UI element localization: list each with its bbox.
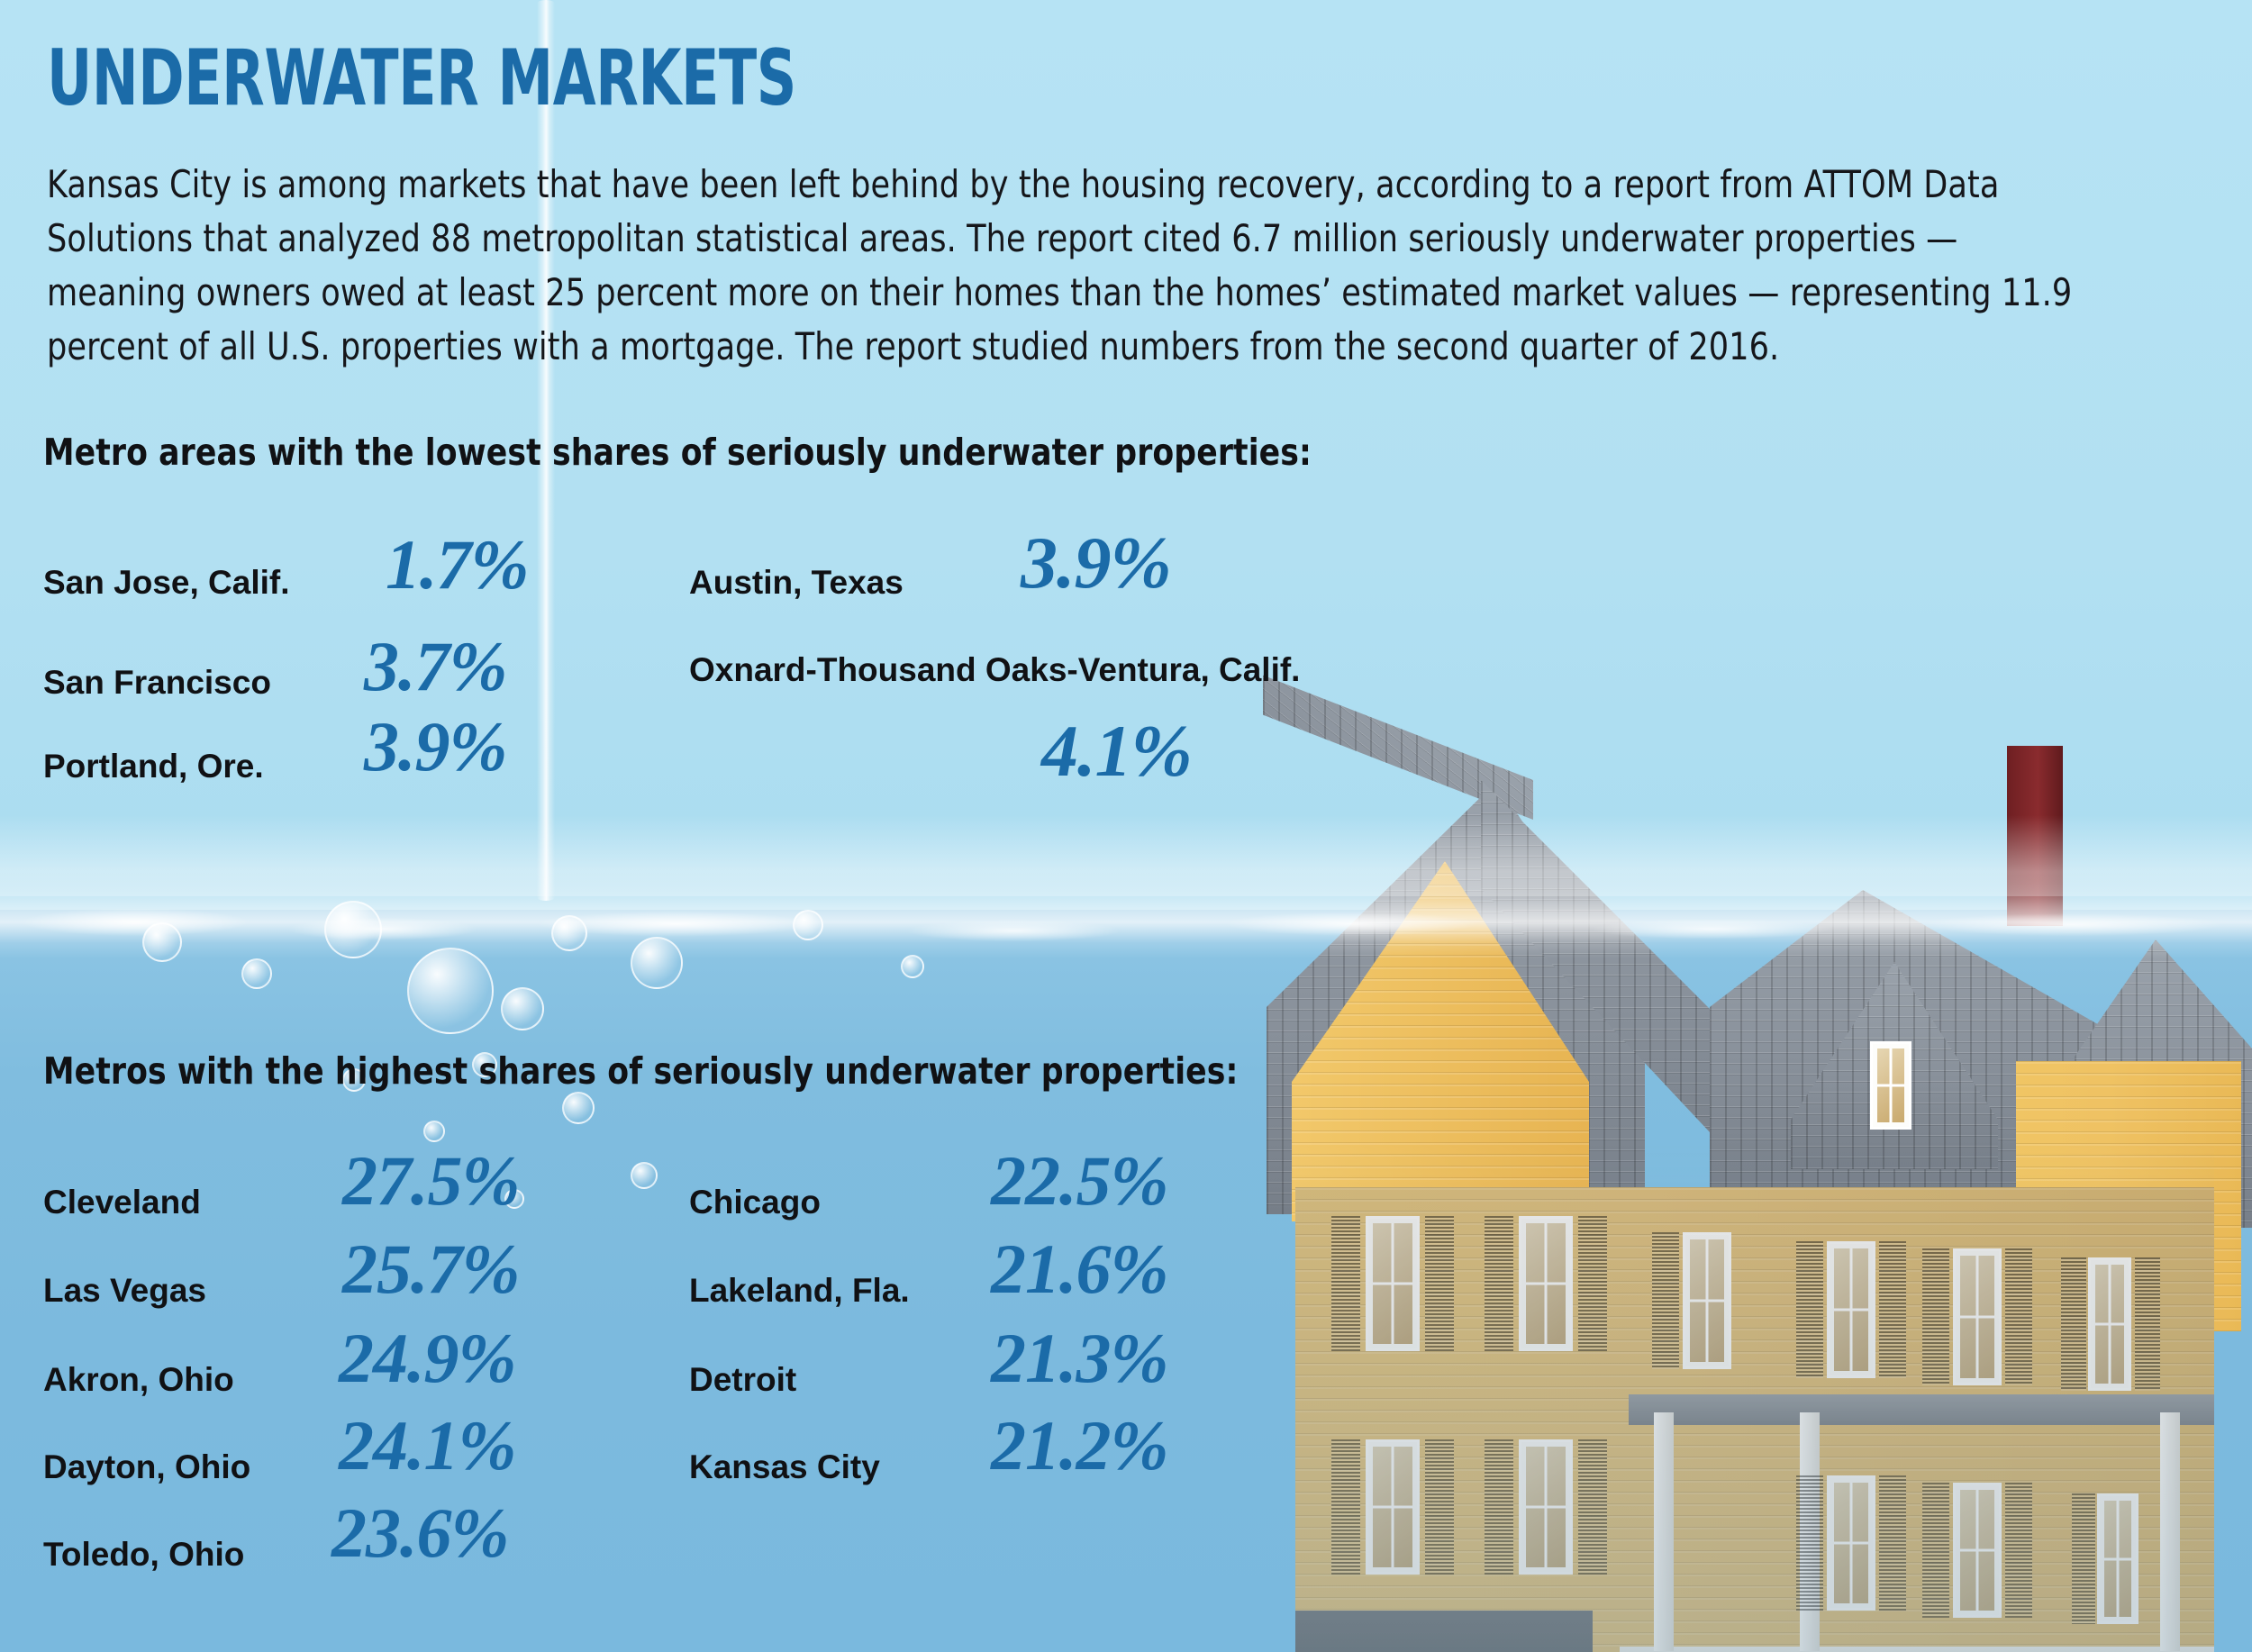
pct-value-toledo: 23.6% [331, 1493, 508, 1574]
infographic-content: UNDERWATER MARKETS Kansas City is among … [0, 0, 2252, 1652]
city-label-toledo: Toledo, Ohio [43, 1536, 244, 1574]
pct-value-san-jose: 1.7% [386, 524, 528, 605]
city-label-detroit: Detroit [689, 1361, 796, 1399]
city-label-akron: Akron, Ohio [43, 1361, 234, 1399]
pct-value-oxnard: 4.1% [1041, 709, 1192, 794]
pct-value-kansas-city: 21.2% [991, 1405, 1167, 1486]
pct-value-san-francisco: 3.7% [364, 626, 506, 707]
page-title: UNDERWATER MARKETS [47, 43, 796, 114]
lede-paragraph: Kansas City is among markets that have b… [47, 158, 2096, 374]
city-label-san-francisco: San Francisco [43, 664, 271, 702]
pct-value-austin: 3.9% [1021, 521, 1171, 605]
pct-value-dayton: 24.1% [339, 1405, 515, 1486]
city-label-portland: Portland, Ore. [43, 748, 264, 785]
pct-value-akron: 24.9% [339, 1318, 515, 1399]
city-label-austin: Austin, Texas [689, 564, 904, 602]
city-label-san-jose: San Jose, Calif. [43, 564, 290, 602]
city-label-lakeland: Lakeland, Fla. [689, 1272, 910, 1310]
city-label-dayton: Dayton, Ohio [43, 1448, 250, 1486]
city-label-kansas-city: Kansas City [689, 1448, 880, 1486]
city-label-oxnard: Oxnard-Thousand Oaks-Ventura, Calif. [689, 651, 1300, 689]
pct-value-las-vegas: 25.7% [342, 1229, 519, 1310]
pct-value-cleveland: 27.5% [342, 1140, 519, 1221]
pct-value-lakeland: 21.6% [991, 1229, 1167, 1310]
city-label-cleveland: Cleveland [43, 1184, 201, 1221]
pct-value-detroit: 21.3% [991, 1318, 1167, 1399]
section-title-lowest: Metro areas with the lowest shares of se… [43, 431, 1312, 474]
pct-value-portland: 3.9% [364, 706, 506, 787]
pct-value-chicago: 22.5% [991, 1140, 1167, 1221]
city-label-chicago: Chicago [689, 1184, 821, 1221]
section-title-highest: Metros with the highest shares of seriou… [43, 1049, 1239, 1093]
city-label-las-vegas: Las Vegas [43, 1272, 206, 1310]
